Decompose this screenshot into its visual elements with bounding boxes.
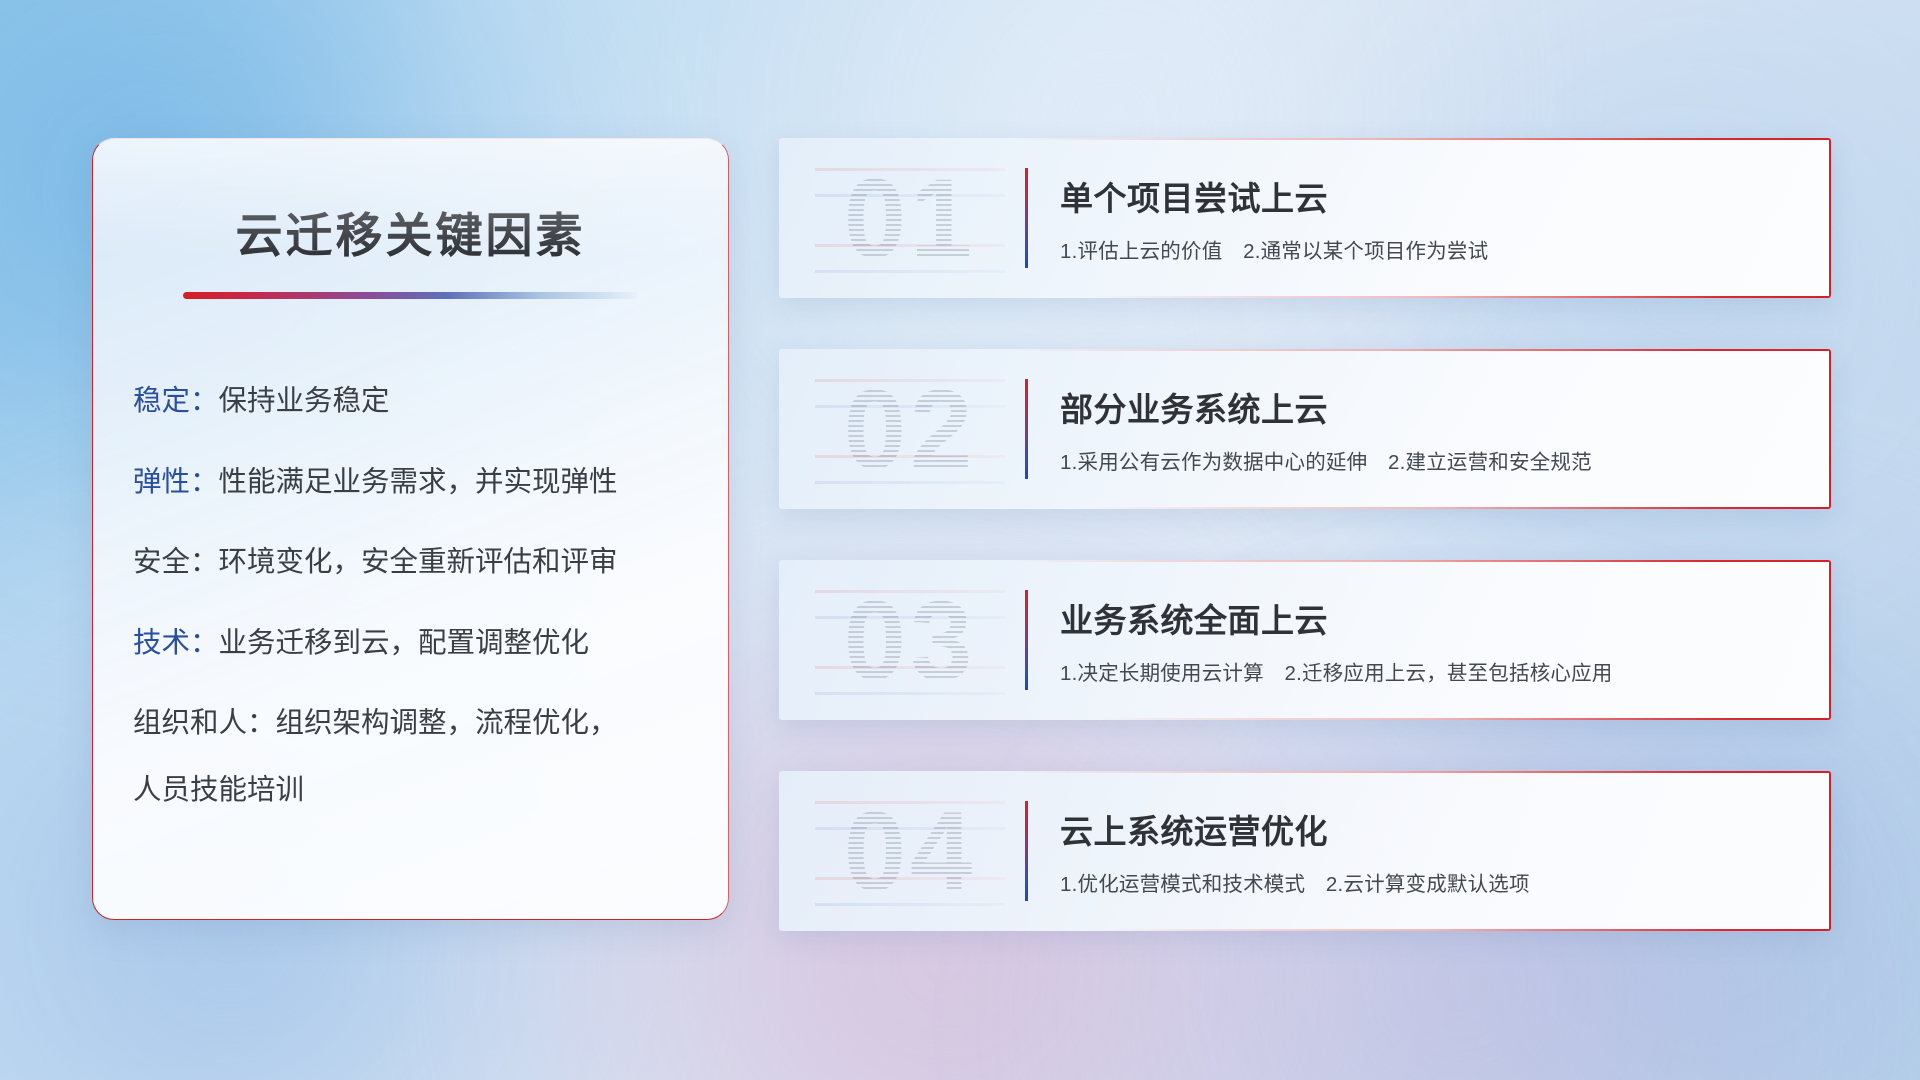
stage-card[interactable]: 02部分业务系统上云1.采用公有云作为数据中心的延伸 2.建立运营和安全规范 — [779, 349, 1831, 509]
stage-card[interactable]: 01单个项目尝试上云1.评估上云的价值 2.通常以某个项目作为尝试 — [779, 138, 1831, 298]
factor-text: 性能满足业务需求，并实现弹性 — [219, 466, 618, 498]
stage-points: 1.优化运营模式和技术模式 2.云计算变成默认选项 — [1060, 867, 1807, 897]
stage-card-right-edge — [1829, 560, 1832, 720]
stage-card-body: 部分业务系统上云1.采用公有云作为数据中心的延伸 2.建立运营和安全规范 — [1060, 349, 1807, 509]
factor-text: 组织架构调整，流程优化， — [276, 707, 618, 739]
factor-item: 稳定：保持业务稳定 — [133, 387, 694, 416]
factor-text: 保持业务稳定 — [219, 385, 390, 417]
factor-label: 稳定： — [133, 385, 219, 417]
stage-number-ghost: 01 — [815, 154, 1005, 282]
stage-divider-bar — [1025, 590, 1028, 690]
panel-title: 云迁移关键因素 — [93, 197, 728, 266]
slide-stage: 云迁移关键因素 稳定：保持业务稳定弹性：性能满足业务需求，并实现弹性安全：环境变… — [0, 0, 1920, 1080]
stage-divider-bar — [1025, 801, 1028, 901]
factor-text: 环境变化，安全重新评估和评审 — [219, 546, 618, 578]
stage-title: 业务系统全面上云 — [1060, 594, 1807, 642]
stage-divider-bar — [1025, 168, 1028, 268]
factor-text: 业务迁移到云，配置调整优化 — [219, 627, 590, 659]
factor-list: 稳定：保持业务稳定弹性：性能满足业务需求，并实现弹性安全：环境变化，安全重新评估… — [93, 387, 728, 804]
factor-item: 安全：环境变化，安全重新评估和评审 — [133, 548, 694, 577]
factor-label: 组织和人： — [133, 707, 276, 739]
stage-divider-bar — [1025, 379, 1028, 479]
stage-title: 云上系统运营优化 — [1060, 805, 1807, 853]
key-factors-panel: 云迁移关键因素 稳定：保持业务稳定弹性：性能满足业务需求，并实现弹性安全：环境变… — [92, 138, 729, 920]
stage-card-right-edge — [1829, 771, 1832, 931]
stage-card[interactable]: 03业务系统全面上云1.决定长期使用云计算 2.迁移应用上云，甚至包括核心应用 — [779, 560, 1831, 720]
stage-points: 1.决定长期使用云计算 2.迁移应用上云，甚至包括核心应用 — [1060, 656, 1807, 686]
factor-text: 人员技能培训 — [133, 774, 304, 806]
stage-card-body: 单个项目尝试上云1.评估上云的价值 2.通常以某个项目作为尝试 — [1060, 138, 1807, 298]
stage-number-ghost: 02 — [815, 365, 1005, 493]
factor-item: 组织和人：组织架构调整，流程优化， — [133, 709, 694, 738]
stage-title: 单个项目尝试上云 — [1060, 172, 1807, 220]
stage-number-ghost: 03 — [815, 576, 1005, 704]
factor-label: 安全： — [133, 546, 219, 578]
factor-label: 弹性： — [133, 466, 219, 498]
stage-card-body: 业务系统全面上云1.决定长期使用云计算 2.迁移应用上云，甚至包括核心应用 — [1060, 560, 1807, 720]
stage-card-right-edge — [1829, 349, 1832, 509]
stage-card-body: 云上系统运营优化1.优化运营模式和技术模式 2.云计算变成默认选项 — [1060, 771, 1807, 931]
stage-card-list: 01单个项目尝试上云1.评估上云的价值 2.通常以某个项目作为尝试02部分业务系… — [779, 138, 1831, 931]
stage-card[interactable]: 04云上系统运营优化1.优化运营模式和技术模式 2.云计算变成默认选项 — [779, 771, 1831, 931]
stage-card-right-edge — [1829, 138, 1832, 298]
factor-item: 技术：业务迁移到云，配置调整优化 — [133, 629, 694, 658]
factor-item: 人员技能培训 — [133, 776, 694, 805]
stage-points: 1.采用公有云作为数据中心的延伸 2.建立运营和安全规范 — [1060, 445, 1807, 475]
factor-item: 弹性：性能满足业务需求，并实现弹性 — [133, 468, 694, 497]
stage-number-ghost: 04 — [815, 787, 1005, 915]
stage-title: 部分业务系统上云 — [1060, 383, 1807, 431]
factor-label: 技术： — [133, 627, 219, 659]
stage-points: 1.评估上云的价值 2.通常以某个项目作为尝试 — [1060, 234, 1807, 264]
title-underline-rule — [183, 292, 638, 299]
